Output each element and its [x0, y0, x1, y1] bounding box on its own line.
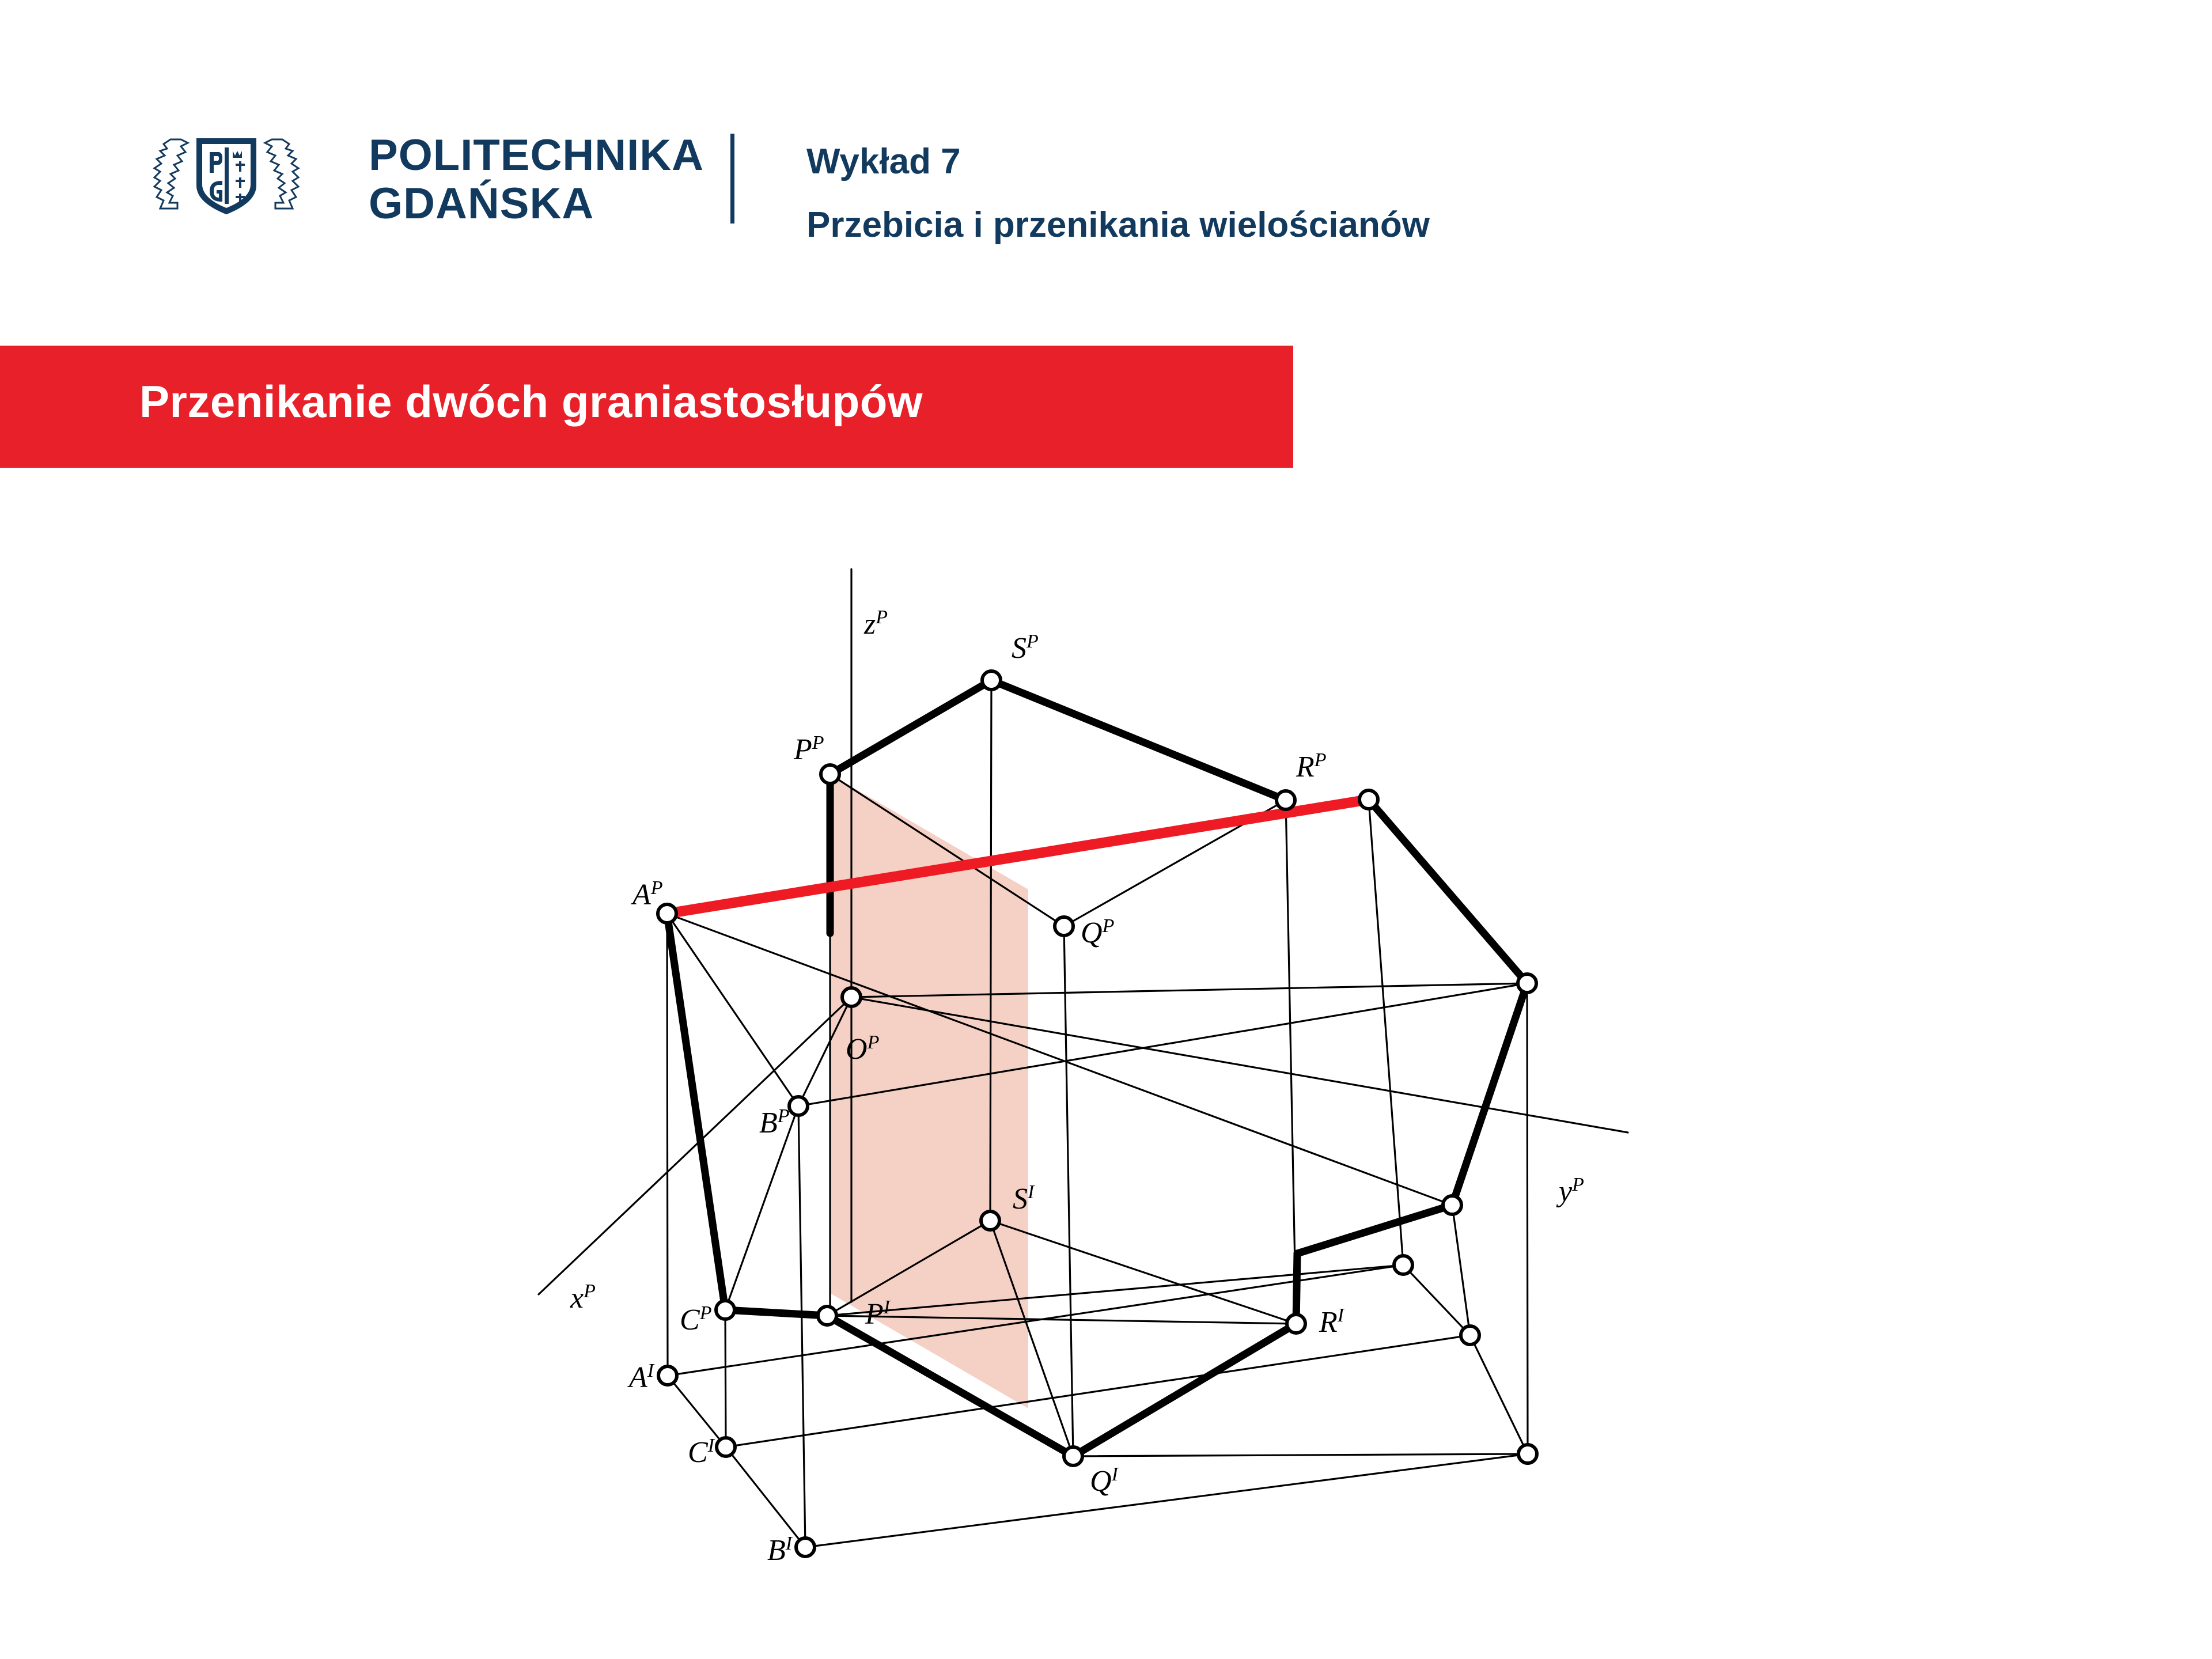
thick-visible-edges — [667, 680, 1527, 1456]
point-label-B-I: BI — [767, 1533, 793, 1567]
point-label-P-P: PP — [793, 732, 824, 766]
axis-x — [539, 997, 851, 1294]
point-label-Q-I: QI — [1090, 1464, 1119, 1498]
point-label-A-I: AI — [627, 1360, 655, 1394]
axis-label-y: yP — [1556, 1174, 1584, 1208]
axis-label-x: xP — [570, 1281, 596, 1315]
vertex-markers — [658, 671, 1537, 1556]
point-label-R-P: RP — [1296, 749, 1327, 783]
point-label-S-P: SP — [1012, 631, 1039, 665]
point-label-C-P: CP — [680, 1302, 711, 1336]
point-label-B-P: BP — [759, 1105, 790, 1139]
point-label-C-I: CI — [688, 1435, 715, 1469]
point-label-R-I: RI — [1319, 1305, 1345, 1339]
technical-drawing: zP xP yP SP PP RP AP QP OP BP SI CP PI R… — [0, 0, 2212, 1659]
point-label-Q-P: QP — [1081, 915, 1114, 949]
point-label-S-I: SI — [1013, 1181, 1035, 1215]
axis-label-z: zP — [863, 607, 888, 641]
point-label-A-P: AP — [631, 877, 663, 911]
